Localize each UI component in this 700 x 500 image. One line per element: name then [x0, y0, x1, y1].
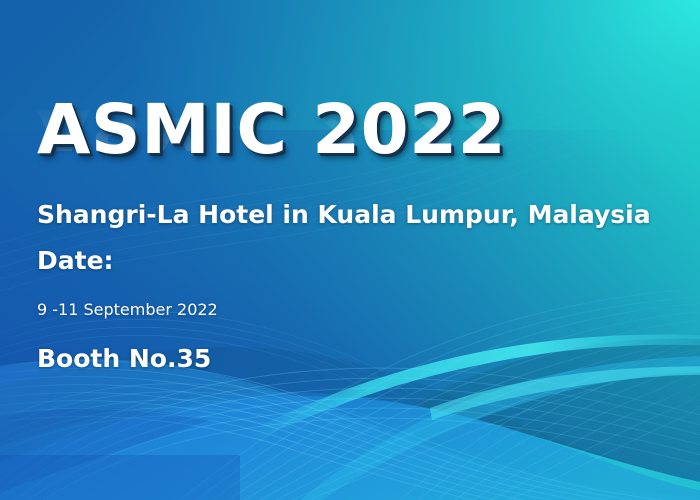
event-title-container: ASMIC 2022 — [37, 92, 506, 172]
event-booth-number: Booth No.35 — [37, 344, 211, 373]
event-date-label: Date: — [37, 246, 114, 275]
event-venue: Shangri-La Hotel in Kuala Lumpur, Malays… — [37, 200, 651, 229]
asmic-event-banner: ASMIC 2022 ASMIC 2022 Shangri-La Hotel i… — [0, 0, 700, 500]
event-title: ASMIC 2022 — [37, 92, 506, 168]
banner-text-layer: ASMIC 2022 ASMIC 2022 Shangri-La Hotel i… — [0, 0, 700, 500]
event-date-value: 9 -11 September 2022 — [37, 300, 218, 319]
